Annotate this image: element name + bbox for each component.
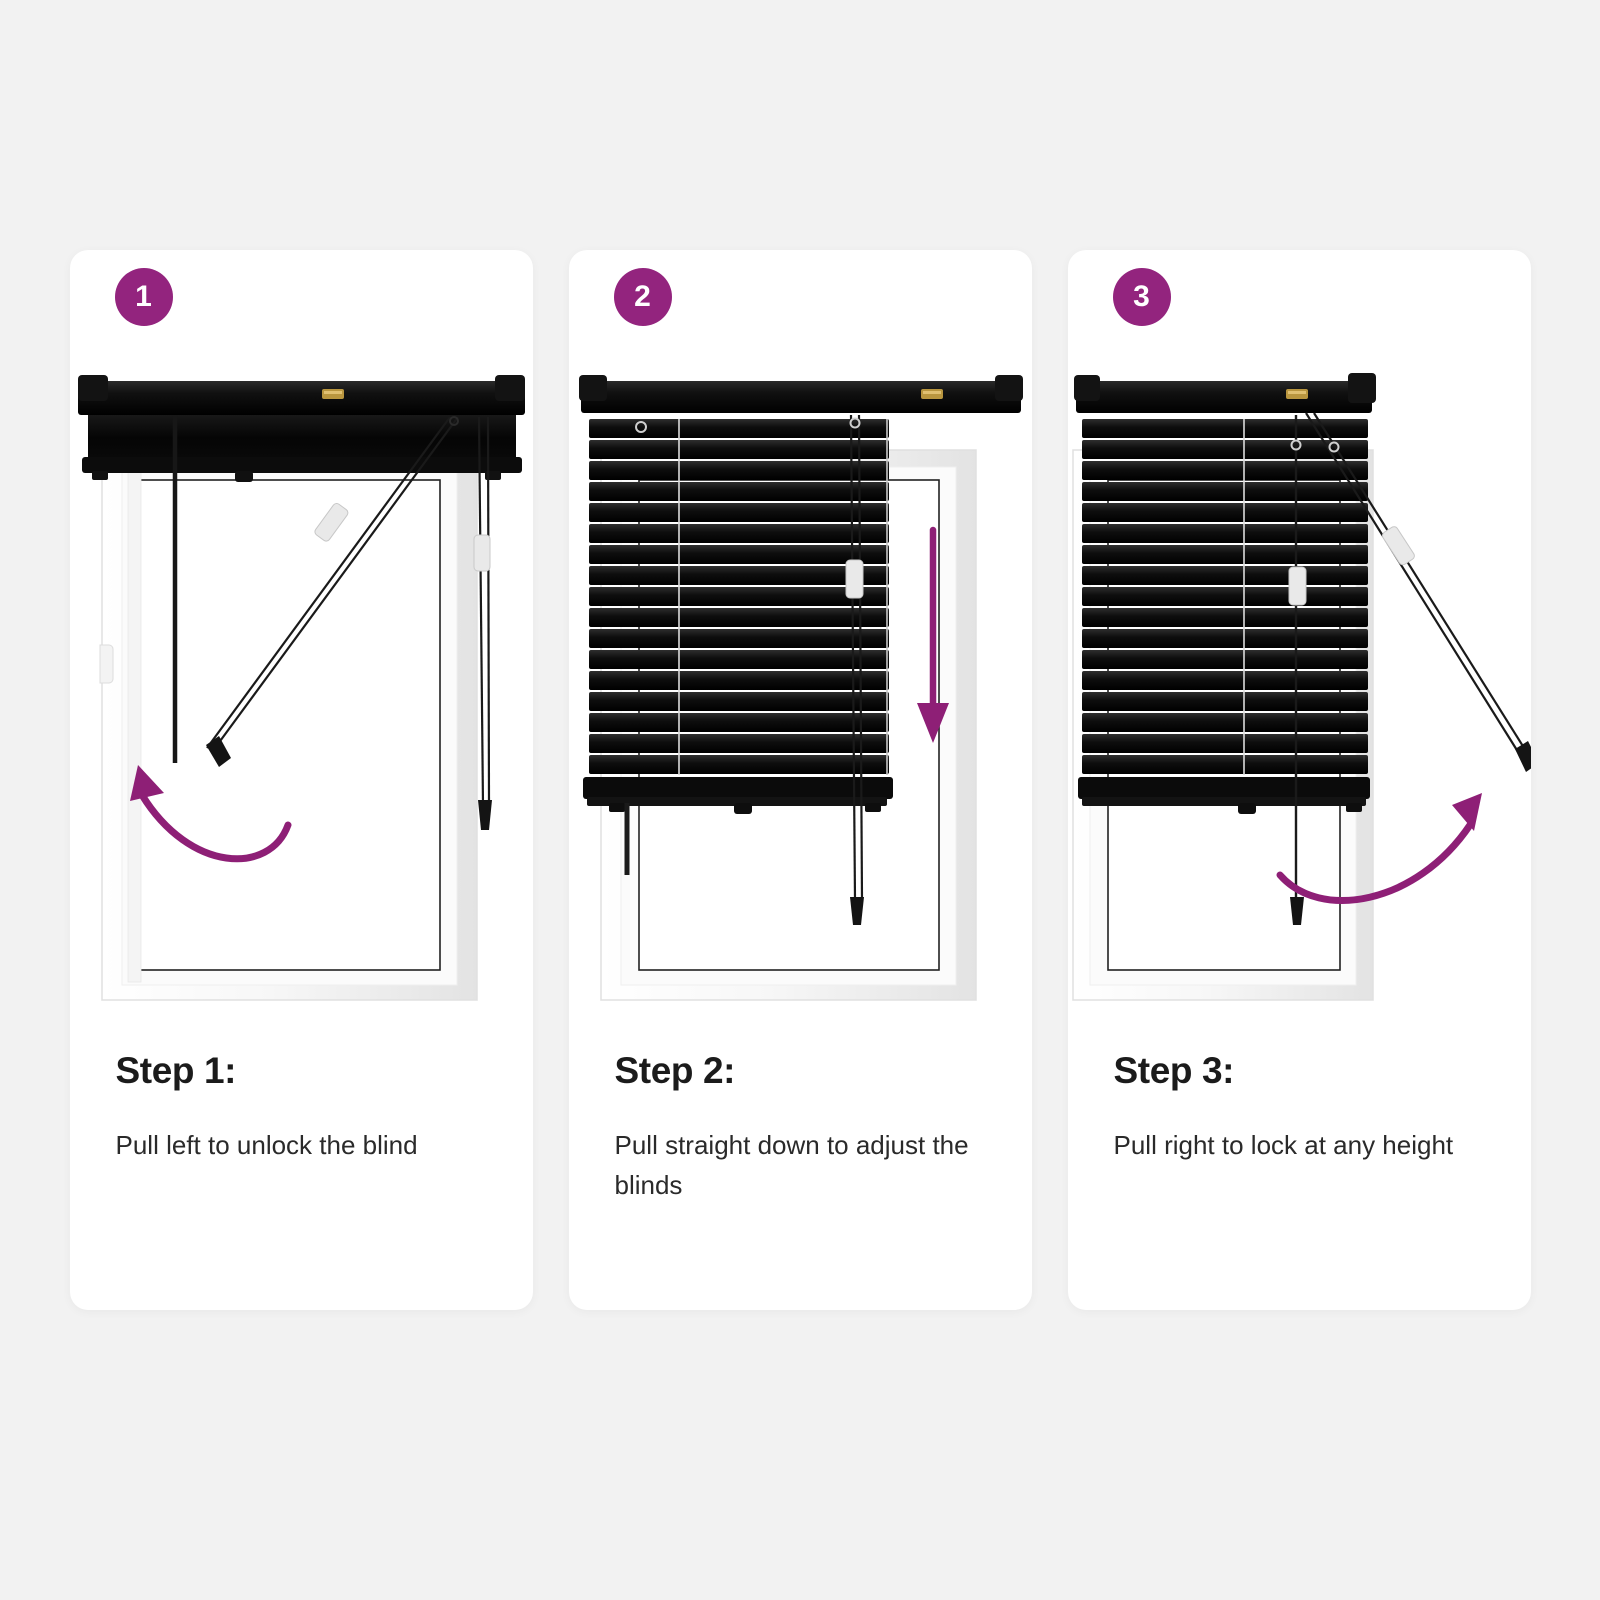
- step-description-2: Pull straight down to adjust the blinds: [615, 1126, 985, 1205]
- step-card-2: 2: [569, 250, 1032, 1310]
- step-caption-1: Step 1: Pull left to unlock the blind: [116, 1050, 486, 1166]
- blind-headrail-1: [78, 375, 525, 482]
- step-description-1: Pull left to unlock the blind: [116, 1126, 486, 1166]
- step-title-3: Step 3:: [1114, 1050, 1484, 1092]
- blind-headrail-3: [1074, 373, 1376, 413]
- blind-slats-3: [1082, 419, 1368, 775]
- step-card-1: 1: [70, 250, 533, 1310]
- step-illustration-3: [1068, 345, 1531, 1025]
- window-frame-1: [100, 450, 477, 1000]
- step-badge-2: 2: [614, 268, 672, 326]
- step-illustration-2: [569, 345, 1032, 1025]
- step-illustration-1: [70, 345, 533, 1025]
- blind-headrail-2: [579, 375, 1023, 413]
- blind-slats-2: [589, 419, 889, 775]
- step-title-2: Step 2:: [615, 1050, 985, 1092]
- step-description-3: Pull right to lock at any height: [1114, 1126, 1484, 1166]
- step-title-1: Step 1:: [116, 1050, 486, 1092]
- step-badge-1: 1: [115, 268, 173, 326]
- step-caption-3: Step 3: Pull right to lock at any height: [1114, 1050, 1484, 1166]
- steps-board: 1: [0, 0, 1600, 1600]
- step-caption-2: Step 2: Pull straight down to adjust the…: [615, 1050, 985, 1205]
- step-card-3: 3: [1068, 250, 1531, 1310]
- step-badge-3: 3: [1113, 268, 1171, 326]
